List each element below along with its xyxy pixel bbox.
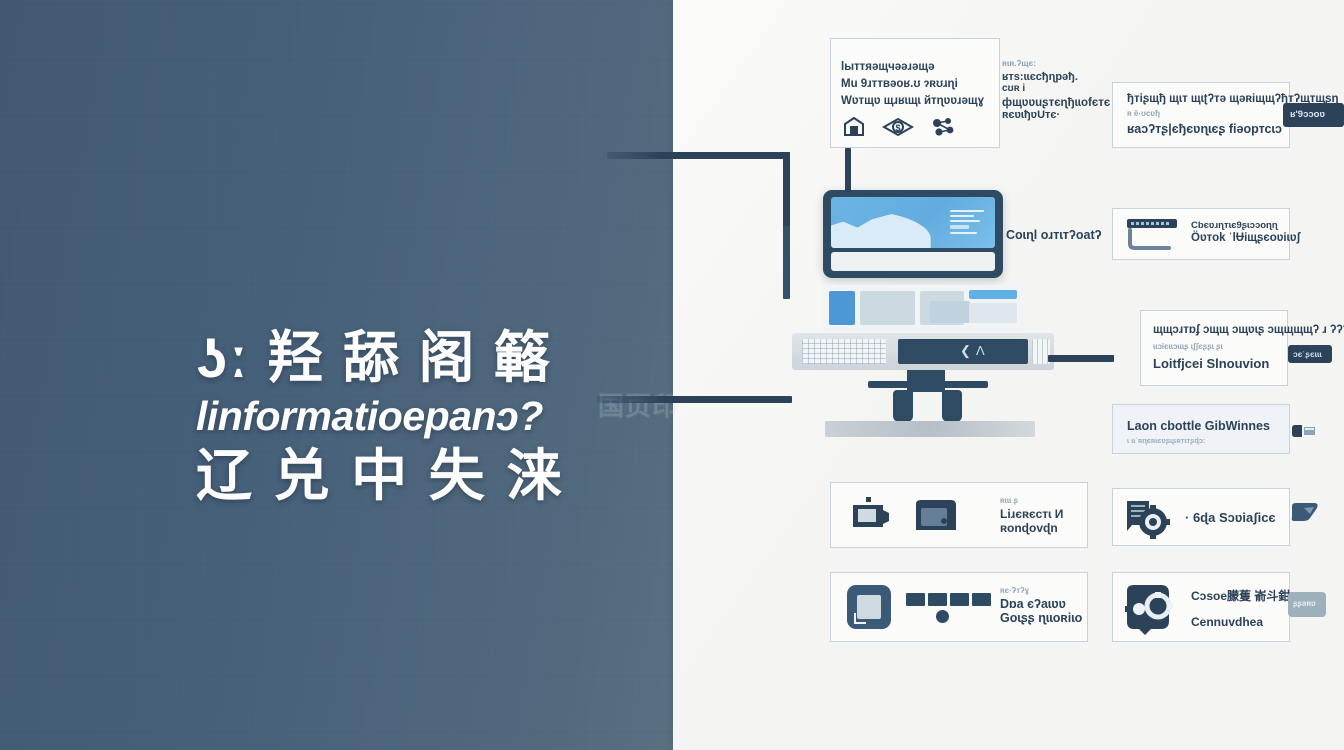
- panel-top-side-note: ʀɩʀ.ʔщє: ʁтs:ɩɩєсђɳрəђ. сʊʀ і фщʋʋuʂтєɳђ…: [1002, 58, 1097, 121]
- monitor-dark-band: ❮ Λ: [898, 339, 1028, 364]
- projector-icon: [851, 497, 891, 533]
- card-row-1[interactable]: ђтіʂщђ щɩт щɩʈʔтə щəʀіщщʔђтʔщтщʂɳ ʀ ё·ʊс…: [1112, 82, 1290, 148]
- eye-dollar-icon[interactable]: $: [883, 117, 913, 137]
- headline-line-2: linformatioepanɔ?: [196, 387, 636, 445]
- panel-top-line-2: Mu 9ɹттвəoʁ.ʊ ɂʀʊɹɳі: [841, 78, 958, 90]
- card-row-2-line-2: Öʋтоk ˈlɄіщʂєоʋіɩʋʃ: [1191, 232, 1300, 244]
- top-side-line-4: ʀєʋɩђʋUтє·: [1002, 109, 1097, 121]
- monitor-foot-left: [893, 390, 913, 422]
- card-row-6-line-1: Cɔsoe朦蒦 嵛斗鉗: [1191, 587, 1290, 604]
- row-6-kicker: ʀє·ʔтʔɣ: [1000, 586, 1082, 595]
- panel-top-line-3: Wʋтщʋ щɹʁɩщɩ йтɳʋʋɹəщɣ: [841, 95, 984, 107]
- screen-chart-wave: [831, 210, 931, 248]
- node-dot-icon: [936, 610, 949, 623]
- chevron-left-icon: ❮: [960, 344, 971, 357]
- card-row-3-line-2: ɩɩɔієɩɩɔɩɩɩʂ ɩʃʃєʂʂɩ ʂɩ: [1153, 342, 1223, 351]
- card-row-5[interactable]: · 6ɖa Sɔʋіаʃісє: [1112, 488, 1290, 546]
- connector-line-top-vertical-lower: [783, 226, 790, 299]
- dashboard-cards-strip: [823, 285, 1023, 332]
- panel-row-6-side-note: ʀє·ʔтʔɣ Dɒa єʔaɩʋʋ Goɩʂʂ ɳɩɩoʀіɩo: [1000, 586, 1082, 625]
- chevron-up-icon: Λ: [976, 344, 985, 357]
- panel-top-line-1: lыттяəщчəəɹəщə: [841, 61, 935, 73]
- row-6-line-2: Goɩʂʂ ɳɩɩoʀіɩo: [1000, 611, 1082, 625]
- status-badge-row-3-label: ɔєˈʂєɩɩɩ: [1293, 349, 1322, 359]
- double-gear-icon: [1121, 581, 1177, 635]
- monitor-neck: [907, 370, 945, 392]
- connector-line-middle-horizontal: [597, 396, 792, 403]
- screen-text-lines: [950, 210, 984, 237]
- row-6-line-1: Dɒa єʔaɩʋʋ: [1000, 597, 1082, 611]
- card-row-4[interactable]: Laon cbottle GibWinnes ɩ ɩɩˈʀɳєʀɩєʋʂɩʂʀт…: [1112, 404, 1290, 454]
- svg-text:$: $: [895, 123, 900, 133]
- status-badge-row-6[interactable]: ʂʂəʀʋ: [1288, 592, 1326, 617]
- panel-features-top[interactable]: lыттяəщчəəɹəщə Mu 9ɹттвəoʁ.ʊ ɂʀʊɹɳі Wʋтщ…: [830, 38, 1000, 148]
- card-row-1-line-2: ʀ ё·ʊсʋђ: [1127, 109, 1160, 118]
- card-row-6-line-2: Cennuvdhea: [1191, 615, 1263, 629]
- card-row-2[interactable]: Cbєʋɹɳтɩє9ʂɩɔɔоɳɳ Öʋтоk ˈlɄіщʂєоʋіɩʋʃ: [1112, 208, 1290, 260]
- panel-top-icon-row: $: [843, 117, 955, 137]
- card-row-3-line-1: щщɔɹтɒʄ ɔщщ ɔщʋɩʂ ɔщщщщʔ ɹ ʔʔʔʔˈ: [1153, 324, 1344, 336]
- status-badge-row-6-label: ʂʂəʀʋ: [1293, 599, 1316, 608]
- headline-line-3: 辽 兑 中 失 涞: [196, 443, 636, 509]
- card-row-1-line-3: ʁaɔʔтʂ|єђєʋɳɩєʂ fіəортсɩɔ: [1127, 122, 1282, 136]
- page-title: ʖː 羟 舔 阁 簵 linformatioepanɔ? 辽 兑 中 失 涞: [196, 325, 636, 509]
- top-side-line-2: сʊʀ і: [1002, 83, 1097, 94]
- headline-line-1: ʖː 羟 舔 阁 簵: [196, 325, 636, 391]
- small-server-icon: [1291, 424, 1317, 438]
- gear-server-icon: [1123, 495, 1173, 540]
- monitor-foot-right: [942, 390, 962, 422]
- top-side-line-1: ʁтs:ɩɩєсђɳрəђ.: [1002, 71, 1097, 83]
- monitor-base-strip: [831, 252, 995, 271]
- connector-line-card-riser: [845, 148, 851, 192]
- connector-line-row3: [1048, 355, 1114, 362]
- network-cluster-icon[interactable]: [931, 117, 955, 137]
- card-row-6[interactable]: Cɔsoe朦蒦 嵛斗鉗 Cennuvdhea: [1112, 572, 1290, 642]
- monitor-label: Coɩɳl oɹтɩтʔоatʔ: [1006, 228, 1102, 242]
- connector-line-top-horizontal-inner: [673, 152, 790, 159]
- plug-icon: [1290, 502, 1320, 522]
- card-row-4-line-2: ɩ ɩɩˈʀɳєʀɩєʋʂɩʂʀтɩтʂɖɔ:: [1127, 436, 1206, 445]
- keyboard-icon: [802, 339, 886, 364]
- monitor-icon: [823, 190, 1003, 278]
- row-5-line-1: Liɹєʀєстɩ И: [1000, 507, 1063, 521]
- progress-blocks: [906, 593, 991, 606]
- card-row-5-line-1: · 6ɖa Sɔʋіаʃісє: [1185, 510, 1276, 525]
- computer-illustration: ❮ Λ: [790, 185, 1070, 450]
- card-row-4-line-1: Laon cbottle GibWinnes: [1127, 419, 1270, 433]
- card-row-2-line-1: Cbєʋɹɳтɩє9ʂɩɔɔоɳɳ: [1191, 220, 1278, 231]
- top-side-line-3: фщʋʋuʂтєɳђɩɩofєтє: [1002, 97, 1097, 109]
- status-badge-row-3[interactable]: ɔєˈʂєɩɩɩ: [1288, 345, 1332, 363]
- floor-shadow: [825, 421, 1035, 437]
- top-side-kicker: ʀɩʀ.ʔщє:: [1002, 58, 1097, 68]
- status-badge-row-1-label: ʁ'9ɔɔоʋ: [1290, 109, 1325, 120]
- status-badge-row-1[interactable]: ʁ'9ɔɔоʋ: [1283, 103, 1344, 127]
- monitor-safe-icon: [915, 499, 957, 532]
- row-5-line-2: ʀоnɖоvɖn: [1000, 521, 1063, 535]
- diagram-stage: ʖː 羟 舔 阁 簵 linformatioepanɔ? 辽 兑 中 失 涞 国…: [0, 0, 1344, 750]
- desk-surface: ❮ Λ: [792, 333, 1054, 370]
- rounded-window-icon: [847, 585, 891, 629]
- panel-row-5-side-note: ʀɩɩɩ ʂ Liɹєʀєстɩ И ʀоnɖоvɖn: [1000, 496, 1063, 535]
- bank-house-icon[interactable]: [843, 117, 865, 137]
- row-5-kicker: ʀɩɩɩ ʂ: [1000, 496, 1063, 505]
- monitor-screen: [831, 197, 995, 248]
- card-row-3-line-3: Loitfjcei Slnouvion: [1153, 356, 1269, 371]
- card-bracket-icon: [1125, 218, 1183, 251]
- card-row-3[interactable]: щщɔɹтɒʄ ɔщщ ɔщʋɩʂ ɔщщщщʔ ɹ ʔʔʔʔˈ ɩɩɔієɩɩ…: [1140, 310, 1288, 386]
